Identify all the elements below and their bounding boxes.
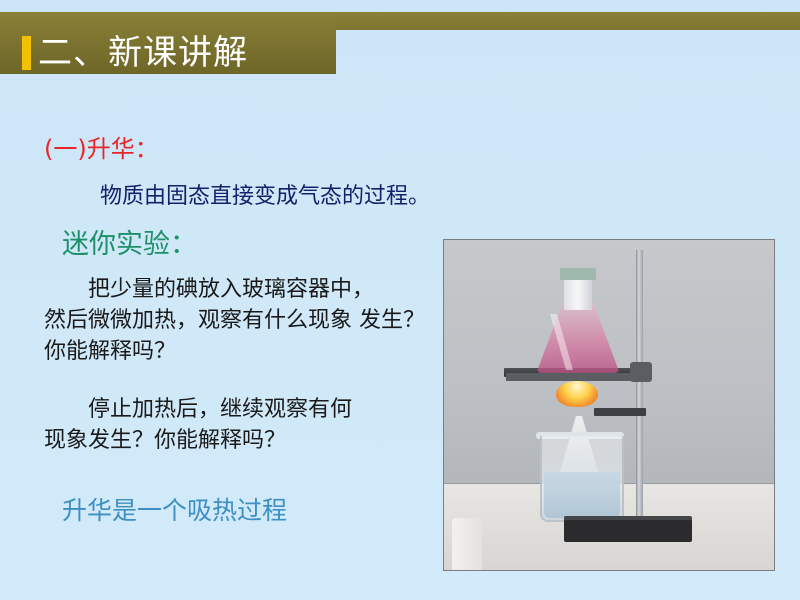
flask-neck — [564, 276, 592, 310]
paragraph-two: 停止加热后，继续观察有何 现象发生？你能解释吗？ — [44, 394, 444, 456]
conclusion-text: 升华是一个吸热过程 — [62, 495, 287, 527]
experiment-photo — [443, 239, 775, 571]
paragraph-one-line-2: 然后微微加热，观察有什么现象 — [44, 308, 352, 333]
paragraph-two-line-2: 现象发生？你能解释吗？ — [44, 428, 286, 453]
paragraph-one: 把少量的碘放入玻璃容器中， 然后微微加热，观察有什么现象 发生？你能解释吗？ — [44, 274, 444, 367]
paragraph-two-line-1: 停止加热后，继续观察有何 — [44, 394, 444, 425]
stand-base — [564, 520, 692, 542]
title-banner-extension — [336, 12, 800, 30]
definition-text: 物质由固态直接变成气态的过程。 — [100, 183, 430, 211]
beaker-water — [544, 472, 620, 518]
flask-body-iodine-vapor — [536, 302, 620, 374]
section-heading: (一)升华： — [44, 134, 159, 164]
flame — [556, 381, 598, 407]
title-accent-bar — [22, 36, 31, 70]
retort-stand-rod — [636, 250, 643, 530]
beaker — [540, 436, 624, 522]
page-title: 二、新课讲解 — [38, 33, 248, 73]
white-object-on-table — [452, 518, 482, 570]
flask-stopper — [560, 268, 596, 280]
lower-clamp — [594, 408, 646, 416]
wire-gauze — [506, 373, 634, 381]
paragraph-one-line-1: 把少量的碘放入玻璃容器中， — [44, 274, 444, 305]
experiment-label: 迷你实验： — [62, 228, 197, 262]
slide: 二、新课讲解 (一)升华： 物质由固态直接变成气态的过程。 迷你实验： 把少量的… — [0, 0, 800, 600]
conical-flask — [536, 276, 620, 374]
